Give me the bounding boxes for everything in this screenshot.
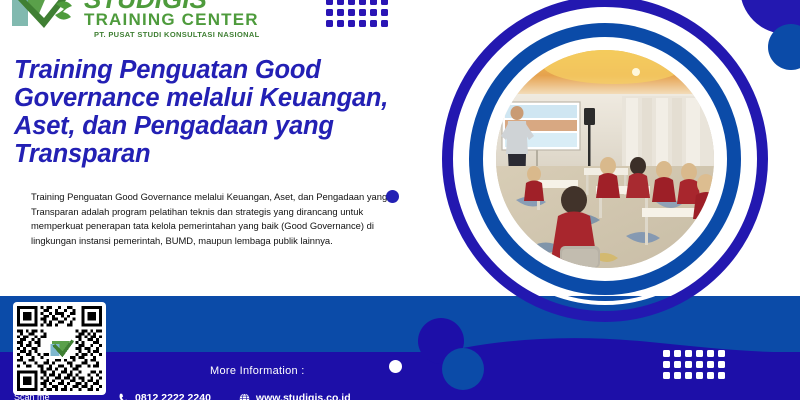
brand-logo[interactable]: STUDIGIS TRAINING CENTER PT. PUSAT STUDI… <box>10 0 260 40</box>
more-information-label: More Information : <box>210 365 305 377</box>
decor-circle-badge <box>768 24 800 70</box>
footer-contact-row: 0812 2222 2240 www.studigis.co.id <box>118 392 351 400</box>
phone-icon <box>118 393 129 400</box>
photo-frame <box>440 0 800 324</box>
logo-brand-name: STUDIGIS <box>84 0 260 10</box>
training-poster: STUDIGIS TRAINING CENTER PT. PUSAT STUDI… <box>0 0 800 400</box>
logo-sub-name: TRAINING CENTER <box>84 10 260 29</box>
navy-dot-grid-icon <box>326 0 388 27</box>
page-title: Training Penguatan Good Governance melal… <box>14 56 454 168</box>
body-paragraph: Training Penguatan Good Governance melal… <box>31 190 391 248</box>
qr-caption: Scan me <box>14 392 50 400</box>
green-checkmark-leaf-logo-icon <box>10 0 80 38</box>
decor-circle-blue <box>442 348 484 390</box>
globe-icon <box>239 393 250 400</box>
qr-code-icon[interactable] <box>13 302 106 395</box>
logo-tagline: PT. PUSAT STUDI KONSULTASI NASIONAL <box>84 29 260 40</box>
training-session-classroom-photo <box>496 50 714 268</box>
navy-bullet-dot-icon <box>386 190 399 203</box>
white-dot-grid-icon <box>663 350 725 379</box>
decor-circle-white <box>389 360 402 373</box>
footer-phone[interactable]: 0812 2222 2240 <box>135 392 211 400</box>
footer-website[interactable]: www.studigis.co.id <box>256 392 351 400</box>
